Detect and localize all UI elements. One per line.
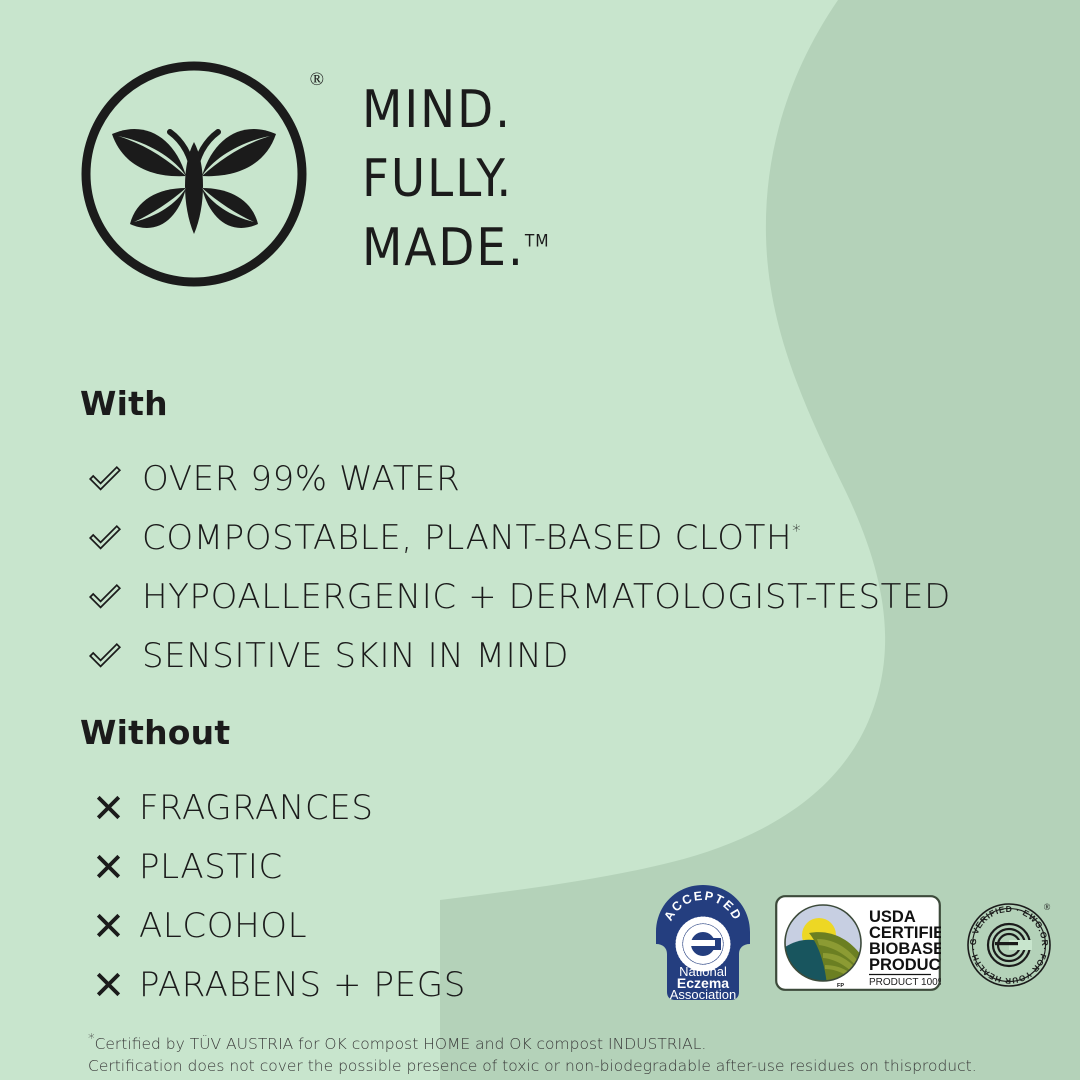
list-item: COMPOSTABLE, PLANT-BASED CLOTH* — [80, 508, 951, 567]
list-item: PLASTIC — [80, 837, 466, 896]
product-claims-graphic: ® MIND. FULLY. MADE.TM With OVER 99% WAT… — [0, 0, 1080, 1080]
footnote-line-1: *Certified by TÜV AUSTRIA for OK compost… — [88, 1031, 948, 1055]
registered-trademark-symbol: ® — [310, 70, 324, 89]
usda-biobased-icon: USDA CERTIFIED BIOBASED PRODUCT PRODUCT … — [775, 895, 941, 991]
list-item-label: ALCOHOL — [139, 906, 307, 946]
footnote: *Certified by TÜV AUSTRIA for OK compost… — [88, 1031, 948, 1077]
list-item-label: FRAGRANCES — [139, 788, 374, 828]
nea-line-3: Association — [670, 987, 736, 1002]
check-outline-icon — [88, 642, 122, 670]
footnote-line-1-text: Certified by TÜV AUSTRIA for OK compost … — [95, 1035, 707, 1053]
list-item: ALCOHOL — [80, 896, 466, 955]
svg-text:EWG VERIFIED · EWG.ORG ·: EWG VERIFIED · EWG.ORG · — [963, 897, 1050, 947]
footnote-marker: * — [88, 1032, 95, 1047]
cross-solid-icon — [96, 854, 121, 879]
trademark-symbol: TM — [525, 232, 550, 252]
wordmark-line-2: FULLY. — [362, 145, 550, 214]
certification-badge-row: ACCEPTED National Eczema Association — [653, 884, 1055, 1002]
brand-wordmark: MIND. FULLY. MADE.TM — [362, 58, 550, 283]
list-item-label: SENSITIVE SKIN IN MIND — [142, 636, 569, 676]
nea-seal-icon: ACCEPTED National Eczema Association — [653, 884, 753, 1002]
list-item: FRAGRANCES — [80, 778, 466, 837]
ewg-arc-top-text: EWG VERIFIED · EWG.ORG · — [963, 897, 1050, 947]
wordmark-line-3: MADE.TM — [362, 214, 550, 283]
section-with-heading: With — [80, 384, 951, 423]
usda-micro-text: FP — [837, 983, 844, 989]
brand-logo: ® MIND. FULLY. MADE.TM — [78, 58, 550, 290]
without-claim-list: FRAGRANCES PLASTIC ALCOHOL PARABENS + PE… — [80, 778, 466, 1014]
list-item: SENSITIVE SKIN IN MIND — [80, 626, 951, 685]
list-item-label: PLASTIC — [139, 847, 283, 887]
ewg-verified-icon: EWG VERIFIED · EWG.ORG · · FOR YOUR HEAL… — [963, 897, 1055, 989]
wordmark-line-3-text: MADE. — [362, 218, 525, 278]
logo-mark-wrap: ® — [78, 58, 310, 290]
list-item-label: COMPOSTABLE, PLANT-BASED CLOTH* — [142, 518, 801, 558]
butterfly-leaf-icon — [78, 58, 310, 290]
list-item-label: PARABENS + PEGS — [139, 965, 466, 1005]
cross-solid-icon — [96, 972, 121, 997]
usda-line-4: PRODUCT — [869, 956, 941, 974]
section-without-heading: Without — [80, 713, 466, 752]
ewg-registered-symbol: ® — [1044, 902, 1051, 912]
list-item: PARABENS + PEGS — [80, 955, 466, 1014]
list-item: OVER 99% WATER — [80, 449, 951, 508]
check-outline-icon — [88, 465, 122, 493]
cross-solid-icon — [96, 913, 121, 938]
usda-sub-line: PRODUCT 100% — [869, 977, 941, 988]
section-with: With OVER 99% WATER COMPOSTABLE, PLANT-B… — [80, 384, 951, 685]
check-outline-icon — [88, 524, 122, 552]
footnote-line-2: Certification does not cover the possibl… — [88, 1055, 948, 1077]
list-item: HYPOALLERGENIC + DERMATOLOGIST-TESTED — [80, 567, 951, 626]
list-item-label: OVER 99% WATER — [142, 459, 460, 499]
cross-solid-icon — [96, 795, 121, 820]
list-item-label: HYPOALLERGENIC + DERMATOLOGIST-TESTED — [142, 577, 951, 617]
section-without: Without FRAGRANCES PLASTIC ALCOHOL — [80, 713, 466, 1014]
check-outline-icon — [88, 583, 122, 611]
wordmark-line-1: MIND. — [362, 76, 550, 145]
with-claim-list: OVER 99% WATER COMPOSTABLE, PLANT-BASED … — [80, 449, 951, 685]
